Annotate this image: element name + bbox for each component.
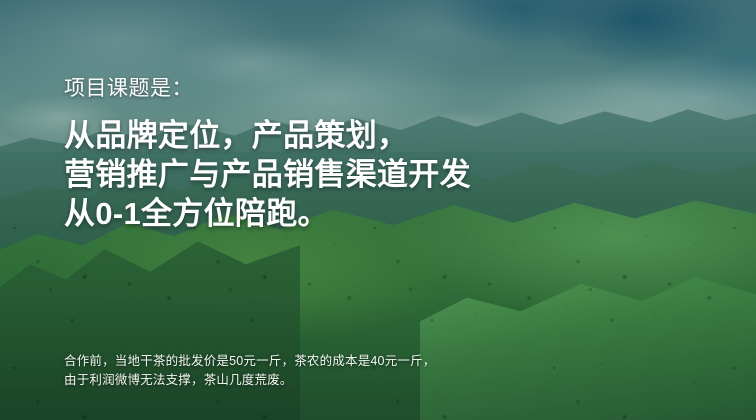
caption-block: 合作前，当地干茶的批发价是50元一斤，茶农的成本是40元一斤， 由于利润微博无法… [64,352,436,390]
headline-block: 项目课题是： 从品牌定位，产品策划， 营销推广与产品销售渠道开发 从0-1全方位… [64,76,471,233]
eyebrow-label: 项目课题是： [64,76,471,102]
headline-line-1: 从品牌定位，产品策划， [64,116,471,155]
headline-line-2: 营销推广与产品销售渠道开发 [64,155,471,194]
page-title: 从品牌定位，产品策划， 营销推广与产品销售渠道开发 从0-1全方位陪跑。 [64,116,471,233]
caption-line-2: 由于利润微博无法支撑，茶山几度荒废。 [64,371,436,390]
headline-line-3: 从0-1全方位陪跑。 [64,194,471,233]
caption-line-1: 合作前，当地干茶的批发价是50元一斤，茶农的成本是40元一斤， [64,352,436,371]
slide-canvas: 项目课题是： 从品牌定位，产品策划， 营销推广与产品销售渠道开发 从0-1全方位… [0,0,756,420]
